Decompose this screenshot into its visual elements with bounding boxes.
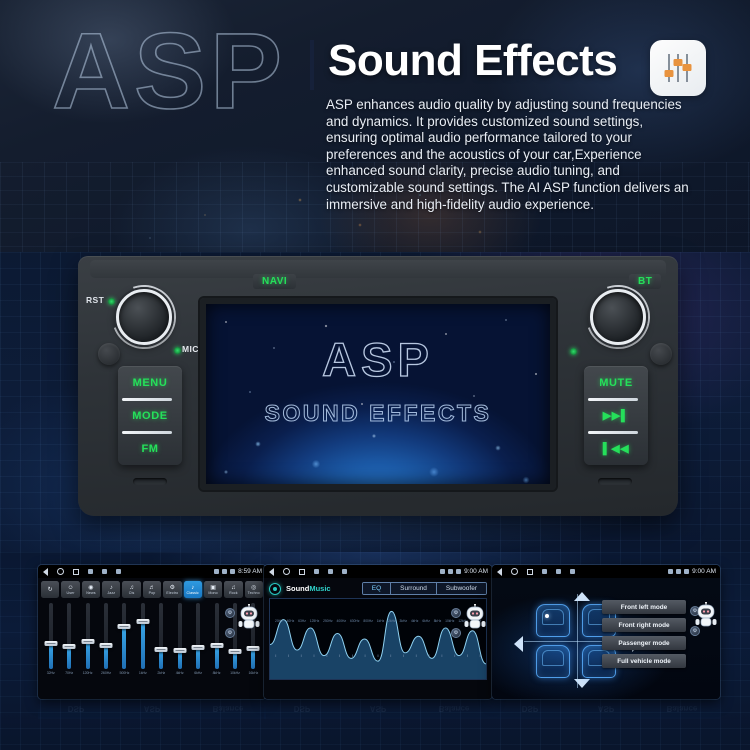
eq-slider-fill [49, 644, 53, 669]
dsp-tick-mark: ‖ [467, 654, 468, 658]
eq-slider-thumb[interactable] [155, 647, 168, 652]
menu-button[interactable]: MENU [118, 366, 182, 399]
reflection-tabs-2: DSP ASP Balance [264, 699, 492, 719]
eq-slider-track[interactable] [67, 603, 71, 669]
preset-label: Electro [166, 591, 178, 595]
reflection-tabs-1: DSP ASP Balance [38, 699, 266, 719]
volume-knob-right[interactable] [590, 289, 646, 345]
eq-band-500Hz[interactable]: 500Hz [116, 603, 133, 682]
preset-label: Classic [187, 591, 199, 595]
status-tray-balance: 9:00 AM [668, 568, 716, 575]
preset-label: Cts [129, 591, 135, 595]
car-head-unit: NAVI BT RST MIC MENU MODE FM MUTE ▶▶▌ ▌◀… [78, 256, 678, 516]
preset-label: News [86, 591, 95, 595]
eq-slider-track[interactable] [122, 603, 126, 669]
recents-icon[interactable] [73, 569, 79, 575]
balance-left-arrow[interactable] [514, 636, 523, 652]
eq-settings-badge-1[interactable]: ⚙ [225, 608, 235, 618]
gps-icon [684, 569, 689, 574]
nav-icons-dsp [269, 568, 347, 576]
eq-band-32Hz[interactable]: 32Hz [42, 603, 59, 682]
dsp-mode-surround[interactable]: Surround [391, 583, 437, 594]
eq-band-frequency: 500Hz [119, 671, 129, 675]
preset-label: Techno [248, 591, 260, 595]
preset-label: Jazz [107, 591, 115, 595]
eq-slider-thumb[interactable] [81, 639, 94, 644]
eq-slider-track[interactable] [141, 603, 145, 669]
title-divider [310, 40, 314, 90]
eq-slider-fill [86, 641, 90, 669]
refl-balance-1: Balance [190, 699, 266, 719]
home-icon[interactable] [57, 568, 64, 575]
dsp-mode-subwoofer[interactable]: Subwoofer [437, 583, 486, 594]
signal-icon [676, 569, 681, 574]
hero-description: ASP enhances audio quality by adjusting … [326, 97, 694, 213]
dsp-tick-mark: ‖ [364, 654, 365, 658]
head-unit-top-bar [90, 260, 666, 278]
navi-label[interactable]: NAVI [253, 274, 296, 289]
display-title: ASP [206, 332, 550, 387]
eq-slider-thumb[interactable] [118, 624, 131, 629]
eq-slider-thumb[interactable] [63, 644, 76, 649]
reflection-tabs-3: DSP ASP Balance [492, 699, 720, 719]
dsp-tick-label: 4kHz [411, 619, 419, 623]
eq-slider-track[interactable] [215, 603, 219, 669]
bt-label[interactable]: BT [629, 274, 661, 289]
dsp-tick-label: 10kHz [445, 619, 454, 623]
preset-label: Pop [149, 591, 156, 595]
eq-slider-fill [233, 652, 237, 669]
eq-slider-fill [122, 627, 126, 669]
eq-band-70Hz[interactable]: 70Hz [60, 603, 77, 682]
balance-mode-full-vehicle-mode[interactable]: Full vehicle mode [602, 654, 686, 668]
assistant-robot-icon[interactable] [694, 602, 718, 628]
assistant-robot-icon[interactable] [237, 604, 261, 630]
eq-slider-fill [251, 649, 255, 669]
head-unit-display[interactable]: ASP SOUND EFFECTS [200, 298, 556, 490]
eq-slider-fill [159, 649, 163, 669]
dsp-top-tick-labels: 20Hz40Hz63Hz125Hz250Hz400Hz630Hz800Hz1kH… [275, 619, 481, 623]
dsp-settings-badge-1[interactable]: ⚙ [451, 608, 461, 618]
camera-icon[interactable] [570, 569, 575, 574]
eq-slider-track[interactable] [178, 603, 182, 669]
eq-preset-cts[interactable]: ♫Cts [122, 581, 140, 598]
refl-dsp-3: DSP [492, 699, 568, 719]
eq-slider-fill [141, 621, 145, 669]
eq-preset-mono[interactable]: ▣Mono [204, 581, 222, 598]
marketing-page: ASP Sound Effects ASP enhances audio qua… [0, 0, 750, 750]
right-button-stack: MUTE ▶▶▌ ▌◀◀ [584, 366, 648, 465]
eq-slider-fill [215, 646, 219, 669]
eq-band-frequency: 10kHz [230, 671, 240, 675]
eq-slider-thumb[interactable] [210, 643, 223, 648]
balance-axis-vertical [577, 594, 578, 688]
dsp-tick-mark: ‖ [480, 654, 481, 658]
dsp-mode-eq[interactable]: EQ [363, 583, 391, 594]
refl-balance-3: Balance [644, 699, 720, 719]
back-icon[interactable] [43, 568, 48, 576]
camera-icon[interactable] [342, 569, 347, 574]
dsp-tick-label: 630Hz [350, 619, 360, 623]
home-icon[interactable] [511, 568, 518, 575]
mute-button[interactable]: MUTE [584, 366, 648, 399]
volume-knob-left[interactable] [116, 289, 172, 345]
eq-slider-track[interactable] [86, 603, 90, 669]
balance-mode-passenger-mode[interactable]: Passenger mode [602, 636, 686, 650]
eq-slider-thumb[interactable] [192, 645, 205, 650]
eq-preset-techno[interactable]: ◎Techno [245, 581, 263, 598]
dsp-settings-badge-2[interactable]: ⚙ [451, 628, 461, 638]
eq-band-260Hz[interactable]: 260Hz [97, 603, 114, 682]
balance-body: Front left modeFront right modePassenger… [492, 578, 720, 699]
dsp-tick-label: 63Hz [298, 619, 306, 623]
back-icon[interactable] [497, 568, 502, 576]
aux-button-right[interactable] [650, 343, 672, 365]
reflection-dsp: DSP ASP Balance [264, 699, 492, 741]
equalizer-body: ↻☺User◉News♪Jazz♫Cts♬Pop⚙Electro♪Classic… [38, 578, 266, 699]
preset-label: Mono [208, 591, 217, 595]
asp-watermark: ASP [52, 12, 286, 131]
dsp-tick-label: 1kHz [377, 619, 385, 623]
eq-band-frequency: 120Hz [83, 671, 93, 675]
apps-icon[interactable] [88, 569, 93, 574]
balance-mode-front-right-mode[interactable]: Front right mode [602, 618, 686, 632]
eq-band-120Hz[interactable]: 120Hz [79, 603, 96, 682]
aux-button-left[interactable] [98, 343, 120, 365]
status-tray-dsp: 9:00 AM [440, 568, 488, 575]
dsp-tick-mark: ‖ [288, 654, 289, 658]
eq-preset-jazz[interactable]: ♪Jazz [102, 581, 120, 598]
eq-band-4kHz[interactable]: 4kHz [171, 603, 188, 682]
mic-led [174, 347, 181, 354]
status-time: 8:59 AM [238, 568, 262, 575]
eq-preset-classic[interactable]: ♪Classic [184, 581, 202, 598]
dsp-tick-label: 3kHz [400, 619, 408, 623]
refl-balance-2: Balance [416, 699, 492, 719]
balance-position-marker [545, 614, 549, 618]
android-status-bar-dsp: 9:00 AM [264, 565, 492, 578]
preset-icon: ↻ [48, 587, 53, 593]
seat-front-left[interactable] [536, 604, 570, 637]
soundmusic-logo-icon [269, 583, 281, 595]
signal-icon [222, 569, 227, 574]
eq-preset-reset[interactable]: ↻ [41, 581, 59, 598]
dsp-tick-mark: ‖ [352, 654, 353, 658]
dsp-tick-mark: ‖ [275, 654, 276, 658]
rst-label: RST [86, 295, 104, 305]
eq-slider-track[interactable] [104, 603, 108, 669]
eq-slider-fill [104, 645, 108, 669]
previous-track-button[interactable]: ▌◀◀ [584, 432, 648, 465]
eq-slider-thumb[interactable] [173, 648, 186, 653]
preset-label: Rock [229, 591, 238, 595]
screenshot-balance[interactable]: 9:00 AM Front left modeFront right modeP… [492, 565, 720, 699]
eq-slider-track[interactable] [49, 603, 53, 669]
eq-band-frequency: 32Hz [47, 671, 55, 675]
starfield-background [206, 304, 550, 484]
gps-icon [456, 569, 461, 574]
eq-band-1kHz[interactable]: 1kHz [134, 603, 151, 682]
dsp-tick-mark: ‖ [326, 654, 327, 658]
android-status-bar-balance: 9:00 AM [492, 565, 720, 578]
dsp-tick-label: 2kHz [388, 619, 396, 623]
eq-band-frequency: 8kHz [213, 671, 221, 675]
eq-band-frequency: 1kHz [139, 671, 147, 675]
eq-preset-pop[interactable]: ♬Pop [143, 581, 161, 598]
vent-slot-right [598, 478, 632, 485]
balance-mode-front-left-mode[interactable]: Front left mode [602, 600, 686, 614]
equalizer-icon [650, 40, 706, 96]
eq-band-frequency: 16kHz [249, 671, 259, 675]
apps-icon[interactable] [314, 569, 319, 574]
next-track-button[interactable]: ▶▶▌ [584, 399, 648, 432]
dsp-tick-mark: ‖ [428, 654, 429, 658]
eq-slider-thumb[interactable] [228, 649, 241, 654]
dsp-tick-label: 6kHz [422, 619, 430, 623]
mic-label: MIC [182, 344, 199, 354]
camera-icon[interactable] [116, 569, 121, 574]
eq-band-2kHz[interactable]: 2kHz [153, 603, 170, 682]
refl-asp-3: ASP [568, 699, 644, 719]
eq-slider-thumb[interactable] [99, 643, 112, 648]
dsp-bottom-tick-labels: ‖‖‖‖‖‖‖‖‖‖‖‖‖‖‖‖‖ [275, 654, 481, 658]
nav-icons-balance [497, 568, 575, 576]
fm-button[interactable]: FM [118, 432, 182, 465]
assistant-robot-icon[interactable] [463, 604, 487, 630]
balance-mode-list: Front left modeFront right modePassenger… [602, 600, 686, 668]
dsp-tick-label: 800Hz [363, 619, 373, 623]
apps-icon[interactable] [542, 569, 547, 574]
eq-settings-badge-2[interactable]: ⚙ [225, 628, 235, 638]
app-name-secondary: Music [309, 584, 330, 593]
eq-band-frequency: 4kHz [176, 671, 184, 675]
seat-rear-left[interactable] [536, 645, 570, 678]
eq-preset-user[interactable]: ☺User [61, 581, 79, 598]
dsp-tick-label: 250Hz [323, 619, 333, 623]
recents-icon[interactable] [299, 569, 305, 575]
reflection-balance: DSP ASP Balance [492, 699, 720, 741]
eq-slider-thumb[interactable] [247, 646, 260, 651]
eq-slider-thumb[interactable] [136, 619, 149, 624]
screenshot-equalizer[interactable]: 8:59 AM ↻☺User◉News♪Jazz♫Cts♬Pop⚙Electro… [38, 565, 266, 699]
recents-icon[interactable] [527, 569, 533, 575]
screenshot-dsp[interactable]: 9:00 AM SoundMusic EQSurroundSubwoofer 2… [264, 565, 492, 699]
vent-slot-left [133, 478, 167, 485]
dsp-tick-mark: ‖ [339, 654, 340, 658]
settings-icon[interactable] [556, 569, 561, 574]
status-tray: 8:59 AM [214, 568, 262, 575]
dsp-tick-label: 40Hz [287, 619, 295, 623]
eq-band-frequency: 260Hz [101, 671, 111, 675]
left-button-stack: MENU MODE FM [118, 366, 182, 465]
refl-dsp-1: DSP [38, 699, 114, 719]
status-time: 9:00 AM [464, 568, 488, 575]
home-icon[interactable] [283, 568, 290, 575]
page-title: Sound Effects [328, 36, 617, 86]
dsp-tick-mark: ‖ [403, 654, 404, 658]
reset-led [108, 298, 115, 305]
reflection-equalizer: DSP ASP Balance [38, 699, 266, 741]
refl-asp-2: ASP [340, 699, 416, 719]
dsp-tick-mark: ‖ [377, 654, 378, 658]
gps-icon [230, 569, 235, 574]
eq-slider-fill [178, 651, 182, 669]
dsp-tick-mark: ‖ [454, 654, 455, 658]
eq-slider-track[interactable] [159, 603, 163, 669]
eq-slider-fill [67, 647, 71, 669]
dsp-tick-label: 400Hz [337, 619, 347, 623]
dsp-tick-mark: ‖ [301, 654, 302, 658]
signal-icon [448, 569, 453, 574]
display-subtitle: SOUND EFFECTS [206, 400, 550, 427]
eq-slider-track[interactable] [196, 603, 200, 669]
android-status-bar: 8:59 AM [38, 565, 266, 578]
dsp-tick-label: 20Hz [275, 619, 283, 623]
app-name-primary: Sound [286, 584, 309, 593]
preset-label: User [67, 591, 75, 595]
dsp-header: SoundMusic EQSurroundSubwoofer [264, 578, 492, 597]
dsp-tick-mark: ‖ [441, 654, 442, 658]
eq-band-frequency: 6kHz [194, 671, 202, 675]
eq-band-8kHz[interactable]: 8kHz [208, 603, 225, 682]
dsp-tick-label: 8kHz [434, 619, 442, 623]
refl-dsp-2: DSP [264, 699, 340, 719]
eq-band-6kHz[interactable]: 6kHz [189, 603, 206, 682]
nav-icons [43, 568, 121, 576]
dsp-tick-mark: ‖ [416, 654, 417, 658]
eq-slider-thumb[interactable] [44, 641, 57, 646]
app-name: SoundMusic [286, 584, 331, 593]
refl-asp-1: ASP [114, 699, 190, 719]
dsp-tick-mark: ‖ [390, 654, 391, 658]
dsp-tick-label: 125Hz [310, 619, 320, 623]
eq-band-frequency: 2kHz [157, 671, 165, 675]
bluetooth-icon [668, 569, 673, 574]
eq-band-frequency: 70Hz [65, 671, 73, 675]
right-led [570, 348, 577, 355]
bluetooth-icon [440, 569, 445, 574]
status-time: 9:00 AM [692, 568, 716, 575]
mode-button[interactable]: MODE [118, 399, 182, 432]
dsp-tick-mark: ‖ [313, 654, 314, 658]
dsp-body: SoundMusic EQSurroundSubwoofer 20Hz40Hz6… [264, 578, 492, 699]
eq-preset-electro[interactable]: ⚙Electro [163, 581, 181, 598]
eq-preset-row: ↻☺User◉News♪Jazz♫Cts♬Pop⚙Electro♪Classic… [38, 578, 266, 600]
eq-slider-fill [196, 647, 200, 669]
eq-preset-news[interactable]: ◉News [82, 581, 100, 598]
dsp-mode-tabs: EQSurroundSubwoofer [362, 582, 487, 595]
settings-icon[interactable] [328, 569, 333, 574]
settings-icon[interactable] [102, 569, 107, 574]
eq-preset-rock[interactable]: ♫Rock [224, 581, 242, 598]
bluetooth-icon [214, 569, 219, 574]
back-icon[interactable] [269, 568, 274, 576]
